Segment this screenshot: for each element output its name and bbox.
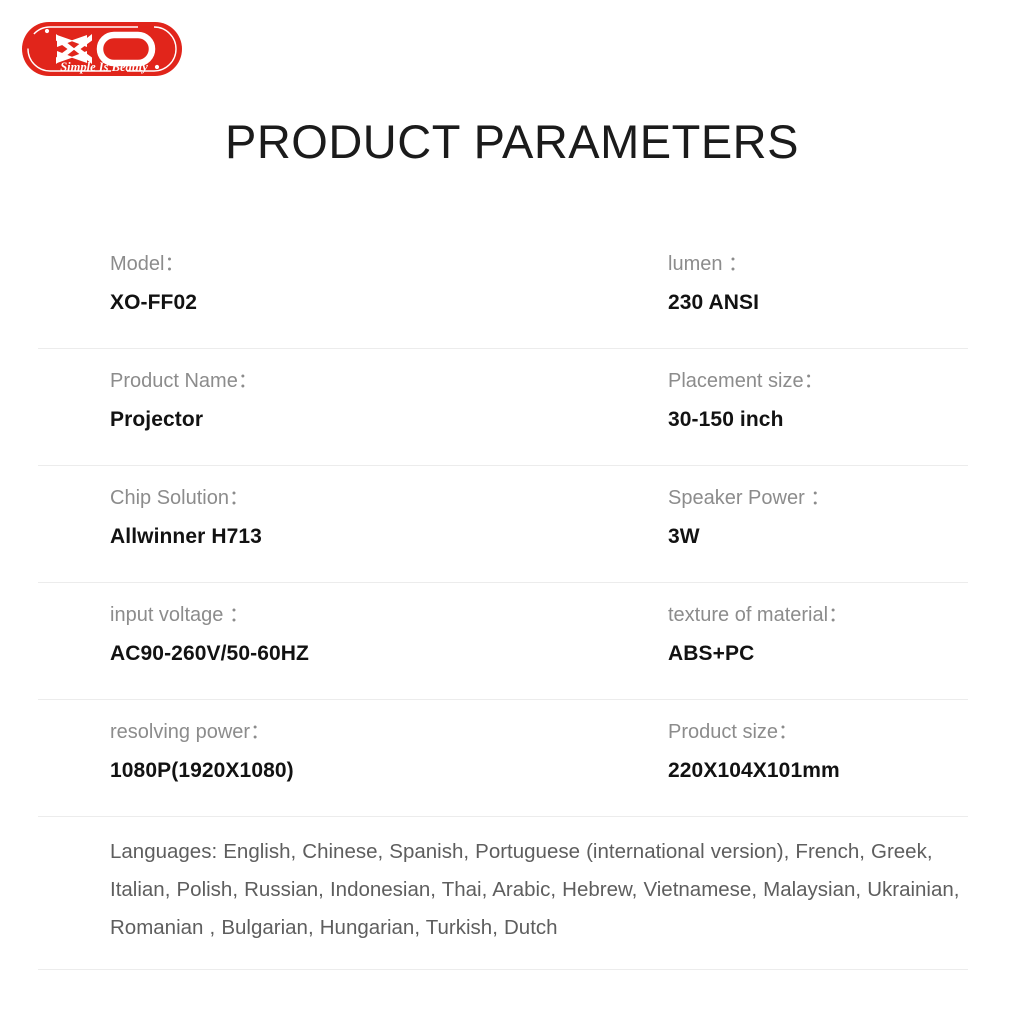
table-row: Chip Solution： Allwinner H713 Speaker Po… [38, 466, 968, 583]
spec-cell-input-voltage: input voltage ： AC90-260V/50-60HZ [110, 601, 650, 668]
spec-value: XO-FF02 [110, 289, 650, 317]
spec-value: 3W [668, 523, 998, 551]
table-row: Product Name： Projector Placement size： … [38, 349, 968, 466]
spec-value: 230 ANSI [668, 289, 998, 317]
languages-row: Languages: English, Chinese, Spanish, Po… [38, 817, 968, 970]
spec-cell-product-name: Product Name： Projector [110, 367, 650, 434]
spec-label: input voltage ： [110, 601, 650, 629]
table-row: input voltage ： AC90-260V/50-60HZ textur… [38, 583, 968, 700]
spec-cell-chip-solution: Chip Solution： Allwinner H713 [110, 484, 650, 551]
product-parameters-table: Model： XO-FF02 lumen ： 230 ANSI Product … [38, 232, 968, 970]
spec-cell-model: Model： XO-FF02 [110, 250, 650, 317]
brand-tagline: Simple Is Beauty [60, 60, 148, 74]
spec-value: ABS+PC [668, 640, 998, 668]
spec-label: Placement size： [668, 367, 998, 395]
spec-label: Product Name： [110, 367, 650, 395]
spec-cell-speaker-power: Speaker Power ： 3W [668, 484, 998, 551]
languages-text: Languages: English, Chinese, Spanish, Po… [110, 833, 998, 947]
spec-label: texture of material： [668, 601, 998, 629]
table-row: resolving power： 1080P(1920X1080) Produc… [38, 700, 968, 817]
spec-label: Chip Solution： [110, 484, 650, 512]
spec-cell-texture-of-material: texture of material： ABS+PC [668, 601, 998, 668]
spec-label: Model： [110, 250, 650, 278]
spec-cell-lumen: lumen ： 230 ANSI [668, 250, 998, 317]
spec-value: Allwinner H713 [110, 523, 650, 551]
spec-label: resolving power： [110, 718, 650, 746]
spec-label: lumen ： [668, 250, 998, 278]
spec-value: 220X104X101mm [668, 757, 998, 785]
spec-cell-placement-size: Placement size： 30-150 inch [668, 367, 998, 434]
spec-value: 1080P(1920X1080) [110, 757, 650, 785]
spec-label: Product size： [668, 718, 998, 746]
page-title: PRODUCT PARAMETERS [0, 108, 1024, 176]
spec-value: 30-150 inch [668, 406, 998, 434]
spec-cell-product-size: Product size： 220X104X101mm [668, 718, 998, 785]
spec-value: Projector [110, 406, 650, 434]
spec-value: AC90-260V/50-60HZ [110, 640, 650, 668]
brand-logo: Simple Is Beauty [20, 18, 184, 80]
spec-label: Speaker Power ： [668, 484, 998, 512]
table-row: Model： XO-FF02 lumen ： 230 ANSI [38, 232, 968, 349]
spec-cell-resolving-power: resolving power： 1080P(1920X1080) [110, 718, 650, 785]
xo-logo-icon: Simple Is Beauty [20, 18, 184, 80]
